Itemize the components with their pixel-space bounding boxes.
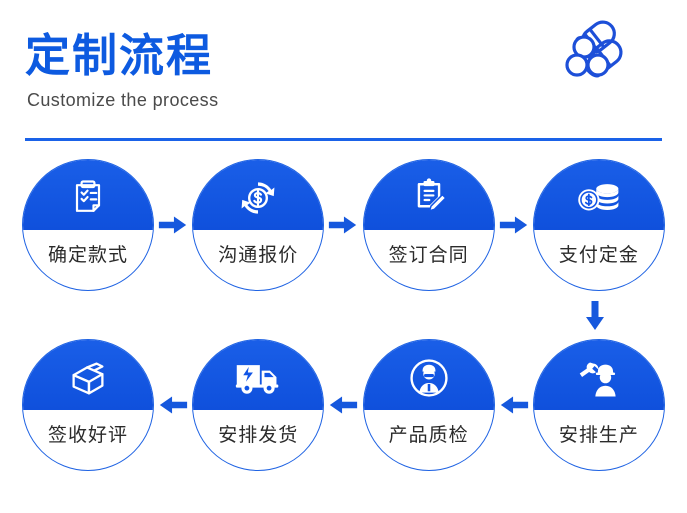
step-circle-top — [192, 339, 324, 410]
arrow-right-icon — [497, 212, 531, 238]
process-row-bottom: 签收好评 — [0, 335, 687, 475]
step-label: 产品质检 — [363, 413, 495, 453]
step-label: 安排生产 — [533, 413, 665, 453]
arrow-right-icon — [326, 212, 360, 238]
process-row-top: 确定款式 — [0, 155, 687, 295]
step-label: 签收好评 — [22, 413, 154, 453]
arrow-right-icon — [156, 212, 190, 238]
process-step-8[interactable]: 签收好评 — [22, 339, 154, 471]
step-circle-top — [363, 159, 495, 230]
step-label: 确定款式 — [22, 233, 154, 273]
step-circle-top — [192, 159, 324, 230]
process-step-6[interactable]: 产品质检 — [363, 339, 495, 471]
step-label: 沟通报价 — [192, 233, 324, 273]
step-label: 支付定金 — [533, 233, 665, 273]
header-divider — [25, 138, 662, 141]
stacked-pipes-icon — [560, 14, 635, 84]
step-label: 安排发货 — [192, 413, 324, 453]
process-step-3[interactable]: 签订合同 — [363, 159, 495, 291]
step-circle-top — [533, 159, 665, 230]
process-step-2[interactable]: 沟通报价 — [192, 159, 324, 291]
process-step-4[interactable]: 支付定金 — [533, 159, 665, 291]
process-step-1[interactable]: 确定款式 — [22, 159, 154, 291]
process-flow: 确定款式 — [0, 155, 687, 505]
customization-process-infographic: 定制流程 Customize the process — [0, 0, 687, 513]
arrow-down-icon — [578, 297, 612, 335]
step-circle-top — [533, 339, 665, 410]
step-circle-top — [22, 159, 154, 230]
step-circle-top — [22, 339, 154, 410]
page-subtitle: Customize the process — [27, 90, 662, 111]
arrow-left-icon — [497, 392, 531, 418]
process-step-5[interactable]: 安排生产 — [533, 339, 665, 471]
process-step-7[interactable]: 安排发货 — [192, 339, 324, 471]
step-circle-top — [363, 339, 495, 410]
arrow-left-icon — [156, 392, 190, 418]
step-label: 签订合同 — [363, 233, 495, 273]
arrow-left-icon — [326, 392, 360, 418]
